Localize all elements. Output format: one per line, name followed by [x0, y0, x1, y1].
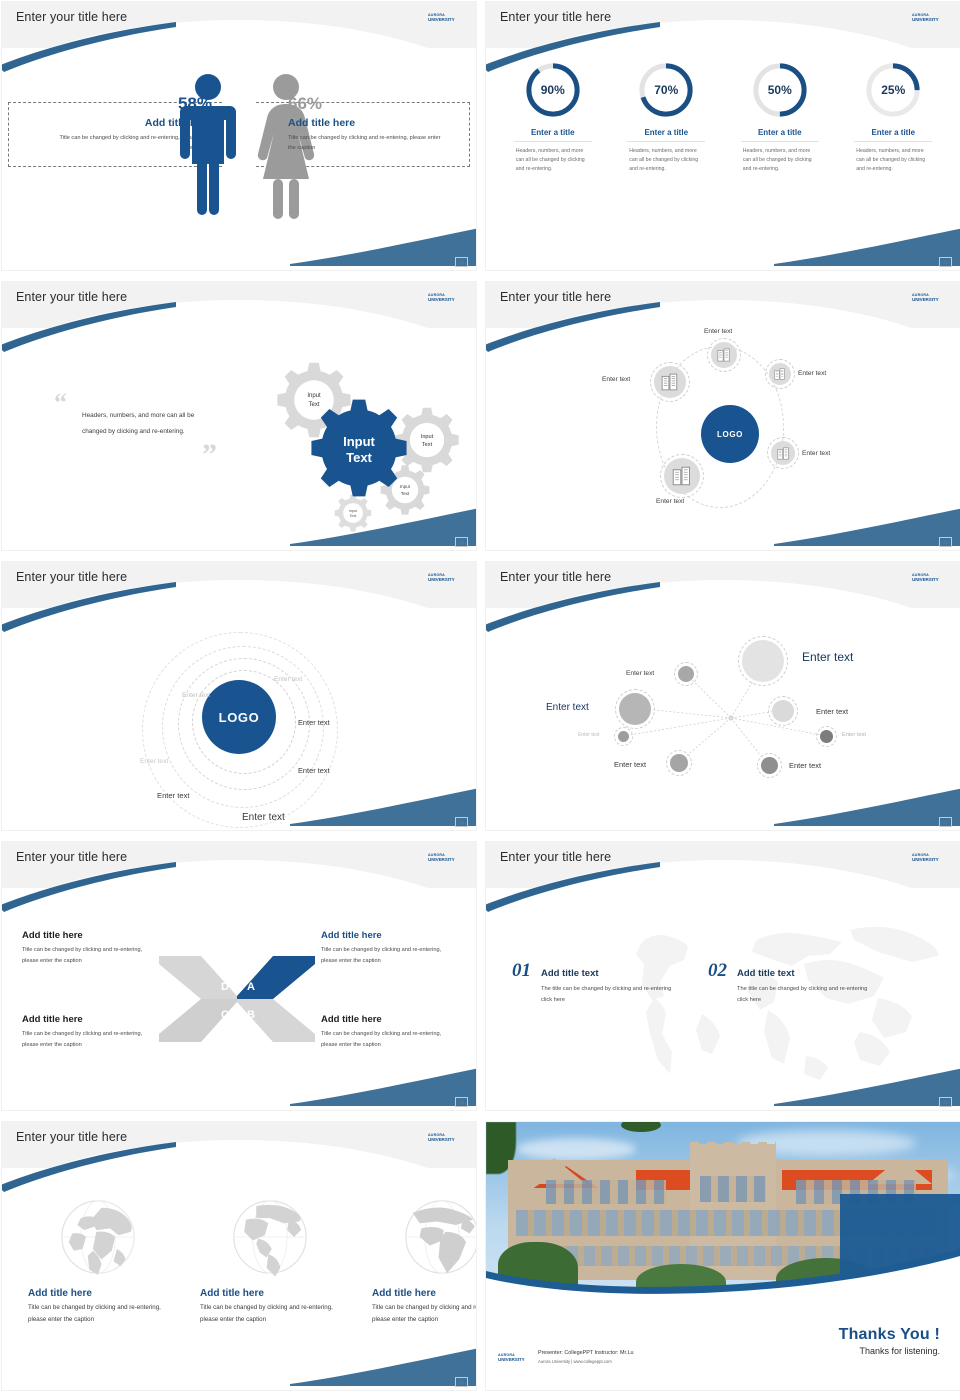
globe-item[interactable]: Add title here Title can be changed by c… — [28, 1194, 168, 1325]
quote-text: Headers, numbers, and more can all be ch… — [82, 408, 212, 440]
building-node-upper-right[interactable] — [769, 363, 791, 385]
donut-item[interactable]: 90% Enter a title Headers, numbers, and … — [503, 62, 603, 270]
slide-header — [2, 2, 476, 48]
network-label-4: Enter text — [816, 707, 848, 716]
presenter-line: Presenter: CollegePPT Instructor: Mr.Lu — [538, 1349, 633, 1358]
quadrant-letter-c: C — [221, 1009, 229, 1021]
stat-caption-right: Title can be changed by clicking and re-… — [288, 133, 448, 153]
page-title: Enter your title here — [16, 850, 127, 864]
globe-icon-asia — [55, 1194, 141, 1280]
donut-body: Headers, numbers, and more can all be ch… — [629, 147, 703, 174]
page-number: 23 — [939, 257, 952, 267]
donut-chart-50: 50% — [752, 62, 808, 118]
presenter-text: Presenter: CollegePPT Instructor: Mr.Lu … — [538, 1349, 633, 1366]
quadrant-letter-b: B — [247, 1009, 255, 1021]
network-edges — [486, 608, 960, 830]
network-node-tiny-left[interactable] — [618, 731, 629, 742]
quadrant-text-top-left: Add title here Title can be changed by c… — [22, 930, 157, 966]
slide-body: 58% Add title here Title can be changed … — [2, 48, 476, 270]
slide-body: 90% Enter a title Headers, numbers, and … — [486, 48, 960, 270]
page-number: 25 — [939, 537, 952, 547]
globe-heading: Add title here — [28, 1288, 168, 1299]
donut-body: Headers, numbers, and more can all be ch… — [743, 147, 817, 174]
network-node-right[interactable] — [772, 700, 794, 722]
slide-header — [486, 842, 960, 888]
network-label-3: Enter text — [546, 702, 589, 713]
quadrant-body: Title can be changed by clicking and re-… — [22, 1029, 157, 1050]
slide-thanks[interactable]: Thanks You ! Thanks for listening. AUROR… — [486, 1122, 960, 1390]
quadrant-heading: Add title here — [321, 930, 456, 941]
logo-line-2: UNIVERSITY — [912, 857, 948, 862]
logo-line-2: UNIVERSITY — [912, 17, 948, 22]
building-node-lower-right[interactable] — [771, 441, 795, 465]
thanks-subheading: Thanks for listening. — [839, 1346, 940, 1356]
page-number: 24 — [455, 537, 468, 547]
globe-heading: Add title here — [372, 1288, 476, 1299]
node-label-lower-right: Enter text — [802, 450, 830, 457]
quadrant-body: Title can be changed by clicking and re-… — [321, 945, 456, 966]
aurora-logo: AURORA UNIVERSITY — [498, 1351, 530, 1364]
network-node-bottom-right[interactable] — [761, 757, 778, 774]
slide-27[interactable]: Enter your title here AURORA UNIVERSITY — [486, 562, 960, 830]
donut-title: Enter a title — [644, 128, 688, 137]
globe-body: Title can be changed by clicking and re-… — [372, 1302, 476, 1325]
item-heading: Add title text — [737, 968, 877, 979]
divider — [627, 141, 705, 142]
building-icon — [661, 373, 679, 391]
page-number: 28 — [455, 1097, 468, 1107]
page-title: Enter your title here — [500, 10, 611, 24]
gear-label: Text — [422, 442, 433, 448]
donut-chart-25: 25% — [865, 62, 921, 118]
globe-body: Title can be changed by clicking and re-… — [28, 1302, 168, 1325]
logo-line-2: UNIVERSITY — [428, 857, 464, 862]
gear-label: Input — [421, 434, 434, 440]
network-node-small-top[interactable] — [678, 666, 694, 682]
gear-label: Text — [401, 491, 410, 496]
quadrant-body: Title can be changed by clicking and re-… — [22, 945, 157, 966]
slide-body: Add title here Title can be changed by c… — [2, 1168, 476, 1390]
aurora-logo: AURORA UNIVERSITY — [912, 571, 948, 584]
logo-line-2: UNIVERSITY — [912, 297, 948, 302]
node-label-bottom: Enter text — [656, 498, 684, 505]
center-logo-node[interactable]: LOGO — [701, 405, 759, 463]
gear-primary-label: Text — [346, 450, 372, 465]
page-number: 26 — [455, 817, 468, 827]
page-number: 22 — [455, 257, 468, 267]
page-title: Enter your title here — [500, 290, 611, 304]
node-label-top: Enter text — [704, 328, 732, 335]
slide-25[interactable]: Enter your title here AURORA UNIVERSITY … — [486, 282, 960, 550]
aurora-logo: AURORA UNIVERSITY — [428, 851, 464, 864]
slide-header — [2, 562, 476, 608]
building-node-left[interactable] — [654, 366, 686, 398]
donut-chart-70: 70% — [638, 62, 694, 118]
quadrant-text-bottom-left: Add title here Title can be changed by c… — [22, 1014, 157, 1050]
donut-value: 25% — [865, 62, 921, 118]
page-number: 30 — [455, 1377, 468, 1387]
butterfly-quadrant-diagram: D A C B — [157, 944, 317, 1054]
logo-line-2: UNIVERSITY — [428, 297, 464, 302]
donut-title: Enter a title — [531, 128, 575, 137]
logo-line-2: UNIVERSITY — [428, 1137, 464, 1142]
donut-body: Headers, numbers, and more can all be ch… — [516, 147, 590, 174]
gear-label: Text — [350, 514, 358, 518]
page-number: 27 — [939, 817, 952, 827]
page-title: Enter your title here — [16, 1130, 127, 1144]
male-figure-icon — [180, 72, 236, 222]
quote-close-icon: ” — [202, 438, 217, 472]
donut-chart-90: 90% — [525, 62, 581, 118]
gears-diagram: Input Text Input Text Input Text — [222, 318, 472, 538]
quadrant-heading: Add title here — [22, 1014, 157, 1025]
ring-label-7: Enter text — [242, 812, 285, 823]
slide-body: “ ” Headers, numbers, and more can all b… — [2, 328, 476, 550]
slide-body: LOGO Enter text Enter text — [486, 328, 960, 550]
building-icon — [672, 466, 692, 486]
quadrant-text-top-right: Add title here Title can be changed by c… — [321, 930, 456, 966]
gear-label: Input — [349, 509, 358, 513]
item-body: The title can be changed by clicking and… — [541, 984, 681, 1006]
gear-label: Input — [307, 393, 321, 399]
network-label-8: Enter text — [789, 761, 821, 770]
page-title: Enter your title here — [16, 570, 127, 584]
slide-26[interactable]: Enter your title here AURORA UNIVERSITY … — [2, 562, 476, 830]
globe-icon-europe-africa — [399, 1194, 476, 1280]
slide-30[interactable]: Enter your title here AURORA UNIVERSITY — [2, 1122, 476, 1390]
network-label-2: Enter text — [802, 650, 853, 664]
slide-29[interactable]: Enter your title here AURORA UNIVERSITY — [486, 842, 960, 1110]
donut-value: 50% — [752, 62, 808, 118]
network-label-7: Enter text — [614, 760, 646, 769]
slide-23[interactable]: Enter your title here AURORA UNIVERSITY … — [486, 2, 960, 270]
slide-body: Enter text Enter text Enter text Enter t… — [486, 608, 960, 830]
donut-body: Headers, numbers, and more can all be ch… — [856, 147, 930, 174]
quote-open-icon: “ — [54, 388, 67, 418]
donut-item[interactable]: 70% Enter a title Headers, numbers, and … — [616, 62, 716, 270]
campus-photo — [486, 1122, 960, 1298]
quadrant-body: Title can be changed by clicking and re-… — [321, 1029, 456, 1050]
gear-secondary-4 — [335, 494, 372, 531]
network-node-large-top[interactable] — [742, 640, 784, 682]
slide-grid: Enter your title here AURORA UNIVERSITY … — [0, 0, 960, 1400]
donut-title: Enter a title — [871, 128, 915, 137]
quadrant-letter-a: A — [247, 981, 255, 993]
photo-curve-mask — [486, 1240, 960, 1298]
stat-block-right: 66% Add title here Title can be changed … — [288, 94, 448, 153]
logo-line-2: UNIVERSITY — [428, 577, 464, 582]
aurora-logo: AURORA UNIVERSITY — [912, 291, 948, 304]
item-body: The title can be changed by clicking and… — [737, 984, 877, 1006]
logo-line-2: UNIVERSITY — [912, 577, 948, 582]
quadrant-letter-d: D — [221, 981, 229, 993]
item-number: 02 — [708, 960, 727, 982]
quadrant-heading: Add title here — [22, 930, 157, 941]
aurora-logo: AURORA UNIVERSITY — [912, 851, 948, 864]
network-node-tiny-right[interactable] — [820, 730, 833, 743]
presenter-block: AURORA UNIVERSITY Presenter: CollegePPT … — [498, 1349, 633, 1366]
aurora-logo: AURORA UNIVERSITY — [428, 291, 464, 304]
aurora-logo: AURORA UNIVERSITY — [428, 1131, 464, 1144]
network-node-bottom-left[interactable] — [670, 754, 688, 772]
slide-header — [2, 1122, 476, 1168]
quadrant-text-bottom-right: Add title here Title can be changed by c… — [321, 1014, 456, 1050]
thanks-block: Thanks You ! Thanks for listening. — [839, 1326, 940, 1356]
aurora-logo: AURORA UNIVERSITY — [428, 571, 464, 584]
network-label-1: Enter text — [626, 670, 654, 677]
item-number: 01 — [512, 960, 531, 982]
donut-value: 90% — [525, 62, 581, 118]
ring-label-4: Enter text — [140, 758, 168, 765]
divider — [854, 141, 932, 142]
page-title: Enter your title here — [500, 570, 611, 584]
gear-primary-label: Input — [343, 434, 375, 449]
divider — [741, 141, 819, 142]
item-heading: Add title text — [541, 968, 681, 979]
ring-label-2: Enter text — [182, 692, 210, 699]
node-label-upper-right: Enter text — [798, 370, 826, 377]
slide-28[interactable]: Enter your title here AURORA UNIVERSITY … — [2, 842, 476, 1110]
globe-icon-americas — [227, 1194, 313, 1280]
quadrant-heading: Add title here — [321, 1014, 456, 1025]
divider — [514, 141, 592, 142]
building-icon — [774, 368, 786, 380]
ring-label-5: Enter text — [298, 766, 330, 775]
network-node-large-left[interactable] — [619, 693, 651, 725]
building-icon — [777, 447, 790, 460]
ring-label-3: Enter text — [298, 718, 330, 727]
gear-label: Text — [308, 402, 319, 408]
org-line: Aurora University | www.collegeppt.com — [538, 1358, 633, 1367]
stat-percent-right: 66% — [288, 94, 448, 114]
node-label-left: Enter text — [602, 376, 630, 383]
slide-body: 01 Add title text The title can be chang… — [486, 888, 960, 1110]
network-label-5: Enter text — [578, 732, 599, 738]
building-icon — [717, 348, 731, 362]
network-label-6: Enter text — [842, 732, 866, 738]
gear-secondary-2 — [395, 408, 458, 472]
slide-header — [2, 842, 476, 888]
slide-header — [486, 282, 960, 328]
globe-heading: Add title here — [200, 1288, 340, 1299]
donut-title: Enter a title — [758, 128, 802, 137]
logo-line-2: UNIVERSITY — [498, 1357, 530, 1362]
ring-label-6: Enter text — [157, 791, 190, 800]
slide-body: LOGO Enter text Enter text Enter text En… — [2, 608, 476, 830]
aurora-logo: AURORA UNIVERSITY — [912, 11, 948, 24]
numbered-item-01[interactable]: 01 Add title text The title can be chang… — [512, 960, 681, 1006]
ring-label-1: Enter text — [274, 676, 302, 683]
page-title: Enter your title here — [500, 850, 611, 864]
building-node-top[interactable] — [711, 342, 737, 368]
page-number: 29 — [939, 1097, 952, 1107]
stat-heading-right: Add title here — [288, 117, 448, 129]
globe-item[interactable]: Add title here Title can be changed by c… — [372, 1194, 476, 1325]
page-title: Enter your title here — [16, 290, 127, 304]
aurora-logo: AURORA UNIVERSITY — [428, 11, 464, 24]
logo-line-2: UNIVERSITY — [428, 17, 464, 22]
page-title: Enter your title here — [16, 10, 127, 24]
thanks-heading: Thanks You ! — [839, 1326, 940, 1344]
globe-body: Title can be changed by clicking and re-… — [200, 1302, 340, 1325]
slide-body: Add title here Title can be changed by c… — [2, 888, 476, 1110]
donut-item[interactable]: 50% Enter a title Headers, numbers, and … — [730, 62, 830, 270]
center-logo-node[interactable]: LOGO — [202, 680, 276, 754]
numbered-item-02[interactable]: 02 Add title text The title can be chang… — [708, 960, 877, 1006]
donut-chart-row: 90% Enter a title Headers, numbers, and … — [486, 48, 960, 270]
slide-header — [486, 2, 960, 48]
slide-24[interactable]: Enter your title here AURORA UNIVERSITY … — [2, 282, 476, 550]
donut-value: 70% — [638, 62, 694, 118]
globe-item[interactable]: Add title here Title can be changed by c… — [200, 1194, 340, 1325]
building-node-bottom[interactable] — [664, 458, 700, 494]
slide-header — [486, 562, 960, 608]
globe-columns: Add title here Title can be changed by c… — [28, 1194, 476, 1325]
gear-label: Input — [400, 484, 411, 489]
slide-22[interactable]: Enter your title here AURORA UNIVERSITY … — [2, 2, 476, 270]
donut-item[interactable]: 25% Enter a title Headers, numbers, and … — [843, 62, 943, 270]
